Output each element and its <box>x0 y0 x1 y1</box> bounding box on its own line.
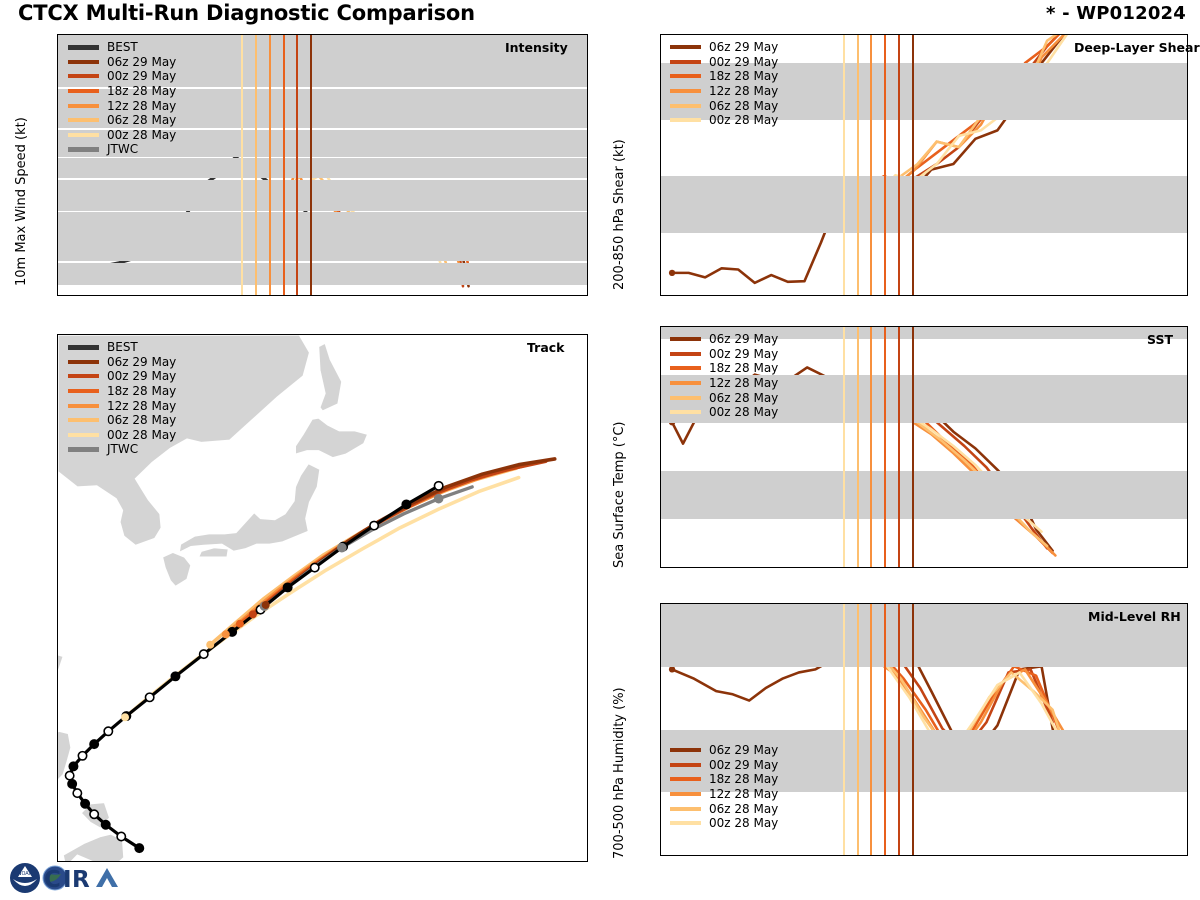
rh-init-time-line <box>843 604 845 855</box>
shear-x-tick-mark <box>1176 295 1177 296</box>
legend-label: 00z 28 May <box>709 405 778 419</box>
shear-init-time-line <box>884 35 886 295</box>
intensity-x-minor-tick <box>478 295 479 296</box>
legend-color-swatch <box>68 45 99 50</box>
legend-label: 12z 28 May <box>709 376 778 390</box>
shear-x-tick-mark <box>844 295 845 296</box>
track-legend-item: 18z 28 May <box>68 384 176 399</box>
shear-x-minor-tick <box>871 295 872 296</box>
track-run-start-marker <box>262 601 270 609</box>
legend-label: 06z 28 May <box>107 413 176 427</box>
rh-y-minor-tick <box>660 635 661 636</box>
legend-label: 00z 29 May <box>709 55 778 69</box>
track-run-start-marker <box>236 620 244 628</box>
legend-color-swatch <box>68 447 99 452</box>
intensity-y-tick-mark <box>57 184 58 185</box>
track-legend-item: BEST <box>68 340 176 355</box>
intensity-x-minor-tick <box>534 295 535 296</box>
legend-color-swatch <box>670 352 701 356</box>
sst-x-minor-tick <box>816 567 817 568</box>
legend-color-swatch <box>670 74 701 78</box>
shear-y-tick-mark <box>660 233 661 234</box>
sst-y-tick-mark <box>660 375 661 376</box>
track-run-start-marker <box>249 610 257 618</box>
rh-legend-item: 06z 28 May <box>670 801 778 816</box>
sst-y-minor-tick <box>660 351 661 352</box>
track-marker-jtwc <box>434 494 442 502</box>
rh-x-minor-tick <box>885 855 886 856</box>
sst-x-minor-tick <box>927 567 928 568</box>
legend-label: 06z 29 May <box>107 55 176 69</box>
sst-x-tick-mark <box>678 567 679 568</box>
rh-x-tick-mark <box>844 855 845 856</box>
track-y-tick-mark <box>57 364 58 365</box>
intensity-y-tick-mark <box>57 217 58 218</box>
sst-x-tick-mark <box>1010 567 1011 568</box>
track-y-tick-mark <box>57 482 58 483</box>
rh-x-minor-tick <box>996 855 997 856</box>
sst-x-minor-tick <box>996 567 997 568</box>
sst-y-axis-label: Sea Surface Temp (°C) <box>612 421 627 568</box>
intensity-x-minor-tick <box>492 295 493 296</box>
shear-x-minor-tick <box>858 295 859 296</box>
intensity-legend-item: 00z 29 May <box>68 69 176 84</box>
legend-label: 18z 28 May <box>709 69 778 83</box>
legend-label: 06z 29 May <box>107 355 176 369</box>
shear-init-marker <box>669 270 675 276</box>
rh-legend: 06z 29 May00z 29 May18z 28 May12z 28 May… <box>670 743 778 831</box>
rh-x-minor-tick <box>858 855 859 856</box>
legend-color-swatch <box>670 763 701 767</box>
intensity-x-tick-mark <box>409 295 410 296</box>
sst-x-tick-mark <box>954 567 955 568</box>
rh-init-time-line <box>912 604 914 855</box>
intensity-init-time-line <box>269 35 271 295</box>
intensity-x-tick-mark <box>576 295 577 296</box>
intensity-x-minor-tick <box>200 295 201 296</box>
track-panel-title: Track <box>527 340 564 355</box>
legend-color-swatch <box>670 748 701 752</box>
rh-legend-item: 12z 28 May <box>670 787 778 802</box>
track-x-tick-mark <box>492 861 493 862</box>
intensity-x-tick-mark <box>464 295 465 296</box>
sst-x-tick-mark <box>733 567 734 568</box>
legend-label: JTWC <box>107 142 138 156</box>
legend-color-swatch <box>670 381 701 385</box>
sst-legend: 06z 29 May00z 29 May18z 28 May12z 28 May… <box>670 332 778 420</box>
intensity-init-time-line <box>310 35 312 295</box>
shear-x-minor-tick <box>1093 295 1094 296</box>
sst-x-minor-tick <box>761 567 762 568</box>
shear-x-minor-tick <box>747 295 748 296</box>
legend-color-swatch <box>68 118 99 122</box>
rh-x-minor-tick <box>1107 855 1108 856</box>
sst-init-time-line <box>898 327 900 567</box>
shear-y-tick-mark <box>660 120 661 121</box>
track-marker-open <box>90 810 98 818</box>
legend-color-swatch <box>68 60 99 64</box>
track-y-tick-mark <box>57 540 58 541</box>
intensity-legend-item: 12z 28 May <box>68 98 176 113</box>
legend-color-swatch <box>670 366 701 370</box>
rh-x-minor-tick <box>691 855 692 856</box>
rh-x-minor-tick <box>761 855 762 856</box>
legend-color-swatch <box>68 133 99 137</box>
legend-color-swatch <box>68 404 99 408</box>
shear-x-tick-mark <box>1065 295 1066 296</box>
rh-x-tick-mark <box>788 855 789 856</box>
track-legend-item: 06z 28 May <box>68 413 176 428</box>
track-legend-item: 12z 28 May <box>68 398 176 413</box>
sst-x-minor-tick <box>719 567 720 568</box>
legend-label: BEST <box>107 40 138 54</box>
page-title: CTCX Multi-Run Diagnostic Comparison <box>18 1 475 25</box>
sst-init-time-line <box>857 327 859 567</box>
intensity-x-tick-mark <box>75 295 76 296</box>
shear-x-minor-tick <box>996 295 997 296</box>
sst-init-time-line <box>870 327 872 567</box>
rh-init-time-line <box>884 604 886 855</box>
track-series-line <box>125 478 519 718</box>
rh-x-minor-tick <box>719 855 720 856</box>
rh-y-tick-mark <box>660 730 661 731</box>
intensity-x-minor-tick <box>451 295 452 296</box>
sst-y-tick-mark <box>660 567 661 568</box>
panel-shear: 200-850 hPa Shear (kt) 01020304025May00z… <box>598 28 1200 318</box>
track-y-tick-mark <box>57 599 58 600</box>
shear-x-minor-tick <box>968 295 969 296</box>
intensity-legend-item: JTWC <box>68 142 176 157</box>
intensity-x-minor-tick <box>256 295 257 296</box>
intensity-x-minor-tick <box>506 295 507 296</box>
legend-color-swatch <box>670 118 701 122</box>
sst-x-minor-tick <box>747 567 748 568</box>
shear-x-minor-tick <box>1162 295 1163 296</box>
sst-legend-item: 12z 28 May <box>670 376 778 391</box>
intensity-y-tick-mark <box>57 285 58 286</box>
rh-y-minor-tick <box>660 698 661 699</box>
shear-x-minor-tick <box>1107 295 1108 296</box>
sst-x-minor-tick <box>968 567 969 568</box>
shear-x-minor-tick <box>913 295 914 296</box>
intensity-init-time-line <box>241 35 243 295</box>
intensity-legend-item: 00z 28 May <box>68 128 176 143</box>
legend-color-swatch <box>68 389 99 393</box>
sst-x-minor-tick <box>1051 567 1052 568</box>
track-marker-open <box>145 693 153 701</box>
svg-text:NOAA: NOAA <box>18 871 33 877</box>
shear-y-minor-tick <box>660 92 661 93</box>
shear-init-time-line <box>870 35 872 295</box>
legend-color-swatch <box>670 410 701 414</box>
legend-color-swatch <box>68 147 99 152</box>
rh-y-minor-tick <box>660 761 661 762</box>
legend-label: 06z 28 May <box>709 802 778 816</box>
intensity-y-tick-mark <box>57 150 58 151</box>
intensity-x-minor-tick <box>270 295 271 296</box>
map-landmass <box>179 464 320 553</box>
track-marker-open <box>200 650 208 658</box>
rh-legend-item: 06z 29 May <box>670 743 778 758</box>
rh-x-minor-tick <box>775 855 776 856</box>
intensity-shaded-band <box>58 180 587 210</box>
sst-panel-title: SST <box>1147 332 1173 347</box>
intensity-x-tick-mark <box>242 295 243 296</box>
track-x-tick-mark <box>298 861 299 862</box>
storm-id-label: * - WP012024 <box>1046 3 1186 24</box>
shear-legend-item: 00z 28 May <box>670 113 778 128</box>
sst-x-minor-tick <box>1148 567 1149 568</box>
sst-legend-item: 06z 28 May <box>670 390 778 405</box>
legend-label: 18z 28 May <box>709 772 778 786</box>
track-y-tick-mark <box>57 775 58 776</box>
rh-x-minor-tick <box>941 855 942 856</box>
sst-legend-item: 18z 28 May <box>670 361 778 376</box>
intensity-legend: BEST06z 29 May00z 29 May18z 28 May12z 28… <box>68 40 176 157</box>
rh-legend-item: 18z 28 May <box>670 772 778 787</box>
sst-x-minor-tick <box>941 567 942 568</box>
legend-label: 18z 28 May <box>107 384 176 398</box>
sst-y-minor-tick <box>660 447 661 448</box>
legend-color-swatch <box>68 74 99 78</box>
intensity-y-minor-tick <box>57 99 58 100</box>
rh-y-tick-mark <box>660 792 661 793</box>
rh-x-minor-tick <box>1093 855 1094 856</box>
shear-x-minor-tick <box>691 295 692 296</box>
track-legend-item: JTWC <box>68 442 176 457</box>
legend-label: 00z 29 May <box>107 369 176 383</box>
sst-x-minor-tick <box>1107 567 1108 568</box>
shear-y-minor-tick <box>660 148 661 149</box>
intensity-x-minor-tick <box>367 295 368 296</box>
sst-x-tick-mark <box>844 567 845 568</box>
legend-color-swatch <box>670 104 701 108</box>
sst-x-minor-tick <box>871 567 872 568</box>
intensity-x-minor-tick <box>548 295 549 296</box>
intensity-x-minor-tick <box>172 295 173 296</box>
shear-y-tick-mark <box>660 289 661 290</box>
shear-init-time-line <box>843 35 845 295</box>
intensity-init-time-line <box>283 35 285 295</box>
track-x-tick-mark <box>557 861 558 862</box>
shear-shaded-band <box>661 176 1187 233</box>
svg-text:I: I <box>63 867 72 893</box>
intensity-y-minor-tick <box>57 65 58 66</box>
rh-x-minor-tick <box>913 855 914 856</box>
legend-color-swatch <box>670 777 701 781</box>
sst-y-tick-mark <box>660 423 661 424</box>
rh-x-minor-tick <box>927 855 928 856</box>
rh-init-marker <box>669 666 675 672</box>
svg-text:R: R <box>72 867 90 893</box>
shear-init-time-line <box>912 35 914 295</box>
map-landmass <box>199 548 229 557</box>
sst-x-minor-tick <box>1093 567 1094 568</box>
legend-label: 00z 28 May <box>709 113 778 127</box>
track-marker-open <box>434 482 442 490</box>
sst-x-minor-tick <box>1162 567 1163 568</box>
svg-text:C: C <box>44 867 61 893</box>
sst-x-minor-tick <box>830 567 831 568</box>
shear-legend-item: 18z 28 May <box>670 69 778 84</box>
legend-label: BEST <box>107 340 138 354</box>
rh-init-time-line <box>898 604 900 855</box>
sst-legend-item: 00z 29 May <box>670 347 778 362</box>
rh-y-tick-mark <box>660 667 661 668</box>
intensity-x-minor-tick <box>284 295 285 296</box>
legend-label: 12z 28 May <box>709 84 778 98</box>
rh-x-minor-tick <box>871 855 872 856</box>
intensity-x-minor-tick <box>325 295 326 296</box>
legend-label: 06z 29 May <box>709 332 778 346</box>
intensity-init-time-line <box>255 35 257 295</box>
legend-label: 00z 28 May <box>107 128 176 142</box>
intensity-x-tick-mark <box>297 295 298 296</box>
intensity-y-tick-mark <box>57 49 58 50</box>
legend-color-swatch <box>670 792 701 796</box>
legend-color-swatch <box>670 337 701 341</box>
legend-color-swatch <box>68 374 99 378</box>
sst-y-minor-tick <box>660 399 661 400</box>
map-landmass <box>295 418 367 458</box>
intensity-y-axis-label: 10m Max Wind Speed (kt) <box>14 117 29 286</box>
sst-init-time-line <box>843 327 845 567</box>
track-y-tick-mark <box>57 658 58 659</box>
legend-label: 06z 28 May <box>107 113 176 127</box>
shear-x-minor-tick <box>885 295 886 296</box>
legend-label: 06z 28 May <box>709 391 778 405</box>
shear-x-minor-tick <box>761 295 762 296</box>
sst-x-minor-tick <box>691 567 692 568</box>
shear-x-minor-tick <box>705 295 706 296</box>
sst-x-minor-tick <box>802 567 803 568</box>
rh-x-minor-tick <box>1162 855 1163 856</box>
intensity-x-minor-tick <box>437 295 438 296</box>
rh-x-minor-tick <box>1148 855 1149 856</box>
track-x-tick-mark <box>233 861 234 862</box>
rh-x-minor-tick <box>816 855 817 856</box>
intensity-x-minor-tick <box>228 295 229 296</box>
intensity-x-minor-tick <box>311 295 312 296</box>
shear-x-minor-tick <box>802 295 803 296</box>
shear-y-axis-label: 200-850 hPa Shear (kt) <box>612 139 627 290</box>
sst-x-tick-mark <box>1065 567 1066 568</box>
shear-x-tick-mark <box>899 295 900 296</box>
sst-x-minor-tick <box>1079 567 1080 568</box>
track-marker-filled <box>68 780 76 788</box>
track-run-start-marker <box>121 713 129 721</box>
legend-color-swatch <box>670 60 701 64</box>
track-y-tick-mark <box>57 834 58 835</box>
track-marker-filled <box>81 800 89 808</box>
shear-y-tick-mark <box>660 63 661 64</box>
track-legend-item: 00z 28 May <box>68 428 176 443</box>
shear-x-minor-tick <box>816 295 817 296</box>
rh-x-minor-tick <box>705 855 706 856</box>
legend-color-swatch <box>670 89 701 93</box>
shear-x-minor-tick <box>1038 295 1039 296</box>
sst-x-tick-mark <box>1121 567 1122 568</box>
sst-y-tick-mark <box>660 327 661 328</box>
intensity-x-minor-tick <box>144 295 145 296</box>
intensity-x-tick-mark <box>130 295 131 296</box>
track-x-tick-mark <box>168 861 169 862</box>
shear-x-minor-tick <box>927 295 928 296</box>
shear-y-minor-tick <box>660 261 661 262</box>
sst-x-tick-mark <box>899 567 900 568</box>
intensity-x-minor-tick <box>89 295 90 296</box>
track-marker-open <box>370 521 378 529</box>
legend-label: 06z 29 May <box>709 40 778 54</box>
legend-label: 06z 29 May <box>709 743 778 757</box>
panel-track: 125°E130°E135°E140°E145°E150°E155°E160°E… <box>0 320 596 890</box>
rh-y-tick-mark <box>660 604 661 605</box>
shear-legend-item: 06z 29 May <box>670 40 778 55</box>
rh-y-tick-mark <box>660 855 661 856</box>
intensity-x-tick-mark <box>186 295 187 296</box>
intensity-y-minor-tick <box>57 200 58 201</box>
shear-x-tick-mark <box>733 295 734 296</box>
panel-rh: 700-500 hPa Humidity (%) 2040608010025Ma… <box>598 597 1200 890</box>
legend-color-swatch <box>68 360 99 364</box>
shear-x-minor-tick <box>941 295 942 296</box>
shear-legend: 06z 29 May00z 29 May18z 28 May12z 28 May… <box>670 40 778 128</box>
sst-x-tick-mark <box>1176 567 1177 568</box>
track-marker-open <box>117 832 125 840</box>
rh-y-minor-tick <box>660 824 661 825</box>
sst-init-time-line <box>912 327 914 567</box>
rh-x-tick-mark <box>954 855 955 856</box>
intensity-legend-item: 18z 28 May <box>68 84 176 99</box>
track-marker-open <box>104 727 112 735</box>
legend-label: 06z 28 May <box>709 99 778 113</box>
track-x-tick-mark <box>362 861 363 862</box>
intensity-y-tick-mark <box>57 251 58 252</box>
rh-x-tick-mark <box>1065 855 1066 856</box>
intensity-shaded-band <box>58 212 587 261</box>
legend-label: 18z 28 May <box>107 84 176 98</box>
rh-x-minor-tick <box>968 855 969 856</box>
rh-x-tick-mark <box>1176 855 1177 856</box>
rh-x-tick-mark <box>678 855 679 856</box>
shear-legend-item: 06z 28 May <box>670 98 778 113</box>
shear-x-minor-tick <box>1134 295 1135 296</box>
intensity-y-tick-mark <box>57 82 58 83</box>
shear-y-tick-mark <box>660 176 661 177</box>
track-marker-filled <box>69 762 77 770</box>
shear-x-tick-mark <box>1010 295 1011 296</box>
intensity-panel-title: Intensity <box>505 40 568 55</box>
track-run-start-marker <box>222 630 230 638</box>
sst-x-minor-tick <box>705 567 706 568</box>
shear-x-minor-tick <box>1024 295 1025 296</box>
map-landmass <box>63 834 124 862</box>
sst-init-time-line <box>884 327 886 567</box>
panel-sst: Sea Surface Temp (°C) 22242628303225May0… <box>598 320 1200 595</box>
legend-label: 00z 29 May <box>709 758 778 772</box>
sst-x-minor-tick <box>1038 567 1039 568</box>
intensity-y-minor-tick <box>57 234 58 235</box>
track-marker-open <box>311 563 319 571</box>
legend-color-swatch <box>670 396 701 400</box>
panel-intensity: 10m Max Wind Speed (kt) 2040608010012014… <box>0 28 596 318</box>
legend-color-swatch <box>670 45 701 49</box>
track-marker-filled <box>102 821 110 829</box>
track-marker-open <box>78 752 86 760</box>
legend-label: 00z 28 May <box>107 428 176 442</box>
intensity-x-tick-mark <box>520 295 521 296</box>
sst-legend-item: 06z 29 May <box>670 332 778 347</box>
